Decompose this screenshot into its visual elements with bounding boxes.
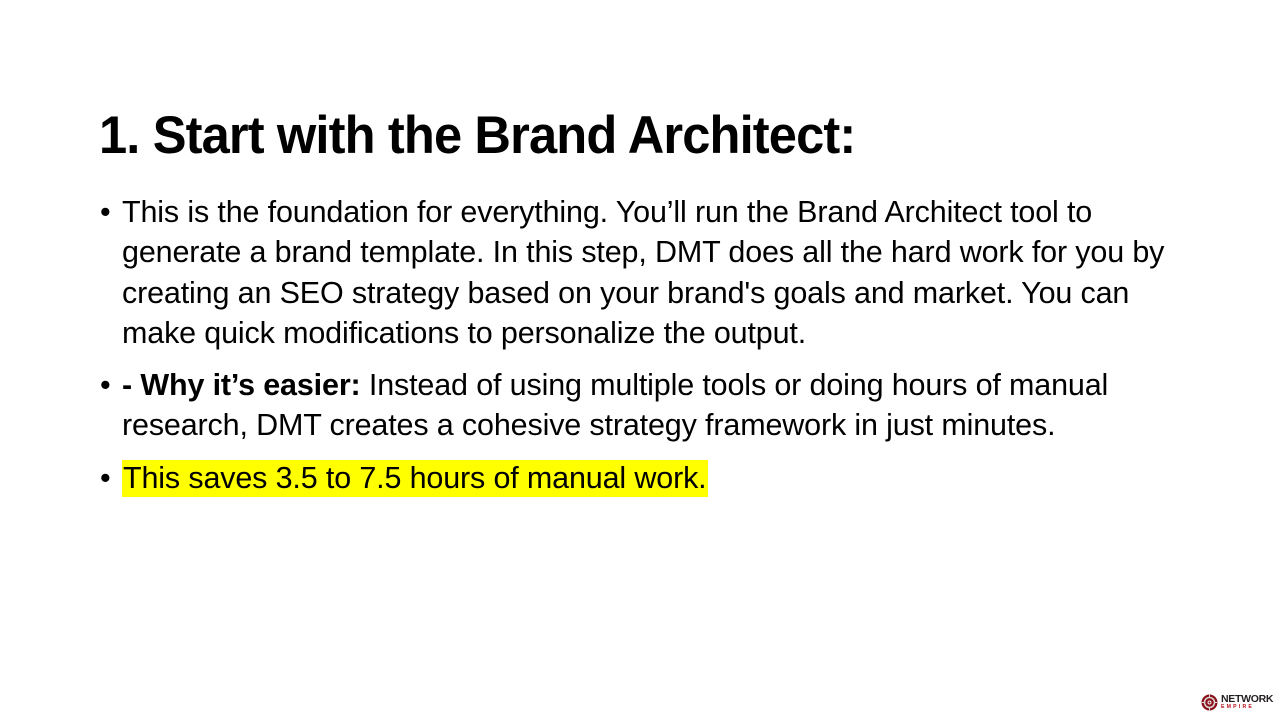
brand-name-primary: NETWORK — [1221, 694, 1273, 705]
list-item-highlighted: • This saves 3.5 to 7.5 hours of manual … — [98, 458, 1188, 498]
list-item-text: - Why it’s easier: Instead of using mult… — [122, 365, 1188, 446]
list-item: • This is the foundation for everything.… — [98, 192, 1188, 353]
bullet-dot-icon: • — [100, 365, 116, 405]
bullet-dot-icon: • — [100, 192, 116, 232]
brand-logo: NETWORK EMPIRE — [1201, 691, 1275, 713]
list-item: • - Why it’s easier: Instead of using mu… — [98, 365, 1188, 446]
list-item-bold-lead: - Why it’s easier: — [122, 368, 361, 402]
brand-name-secondary: EMPIRE — [1221, 705, 1273, 710]
page-title: 1. Start with the Brand Architect: — [99, 108, 1140, 163]
list-item-text: This is the foundation for everything. Y… — [122, 192, 1188, 353]
list-item-text: This saves 3.5 to 7.5 hours of manual wo… — [122, 458, 1188, 498]
network-empire-emblem-icon — [1201, 694, 1218, 711]
list-item-body: This is the foundation for everything. Y… — [122, 195, 1164, 350]
slide-canvas: 1. Start with the Brand Architect: • Thi… — [0, 0, 1280, 720]
highlighted-text: This saves 3.5 to 7.5 hours of manual wo… — [122, 460, 708, 497]
brand-wordmark: NETWORK EMPIRE — [1221, 694, 1273, 711]
bullet-list: • This is the foundation for everything.… — [98, 192, 1188, 498]
bullet-dot-icon: • — [100, 458, 116, 498]
